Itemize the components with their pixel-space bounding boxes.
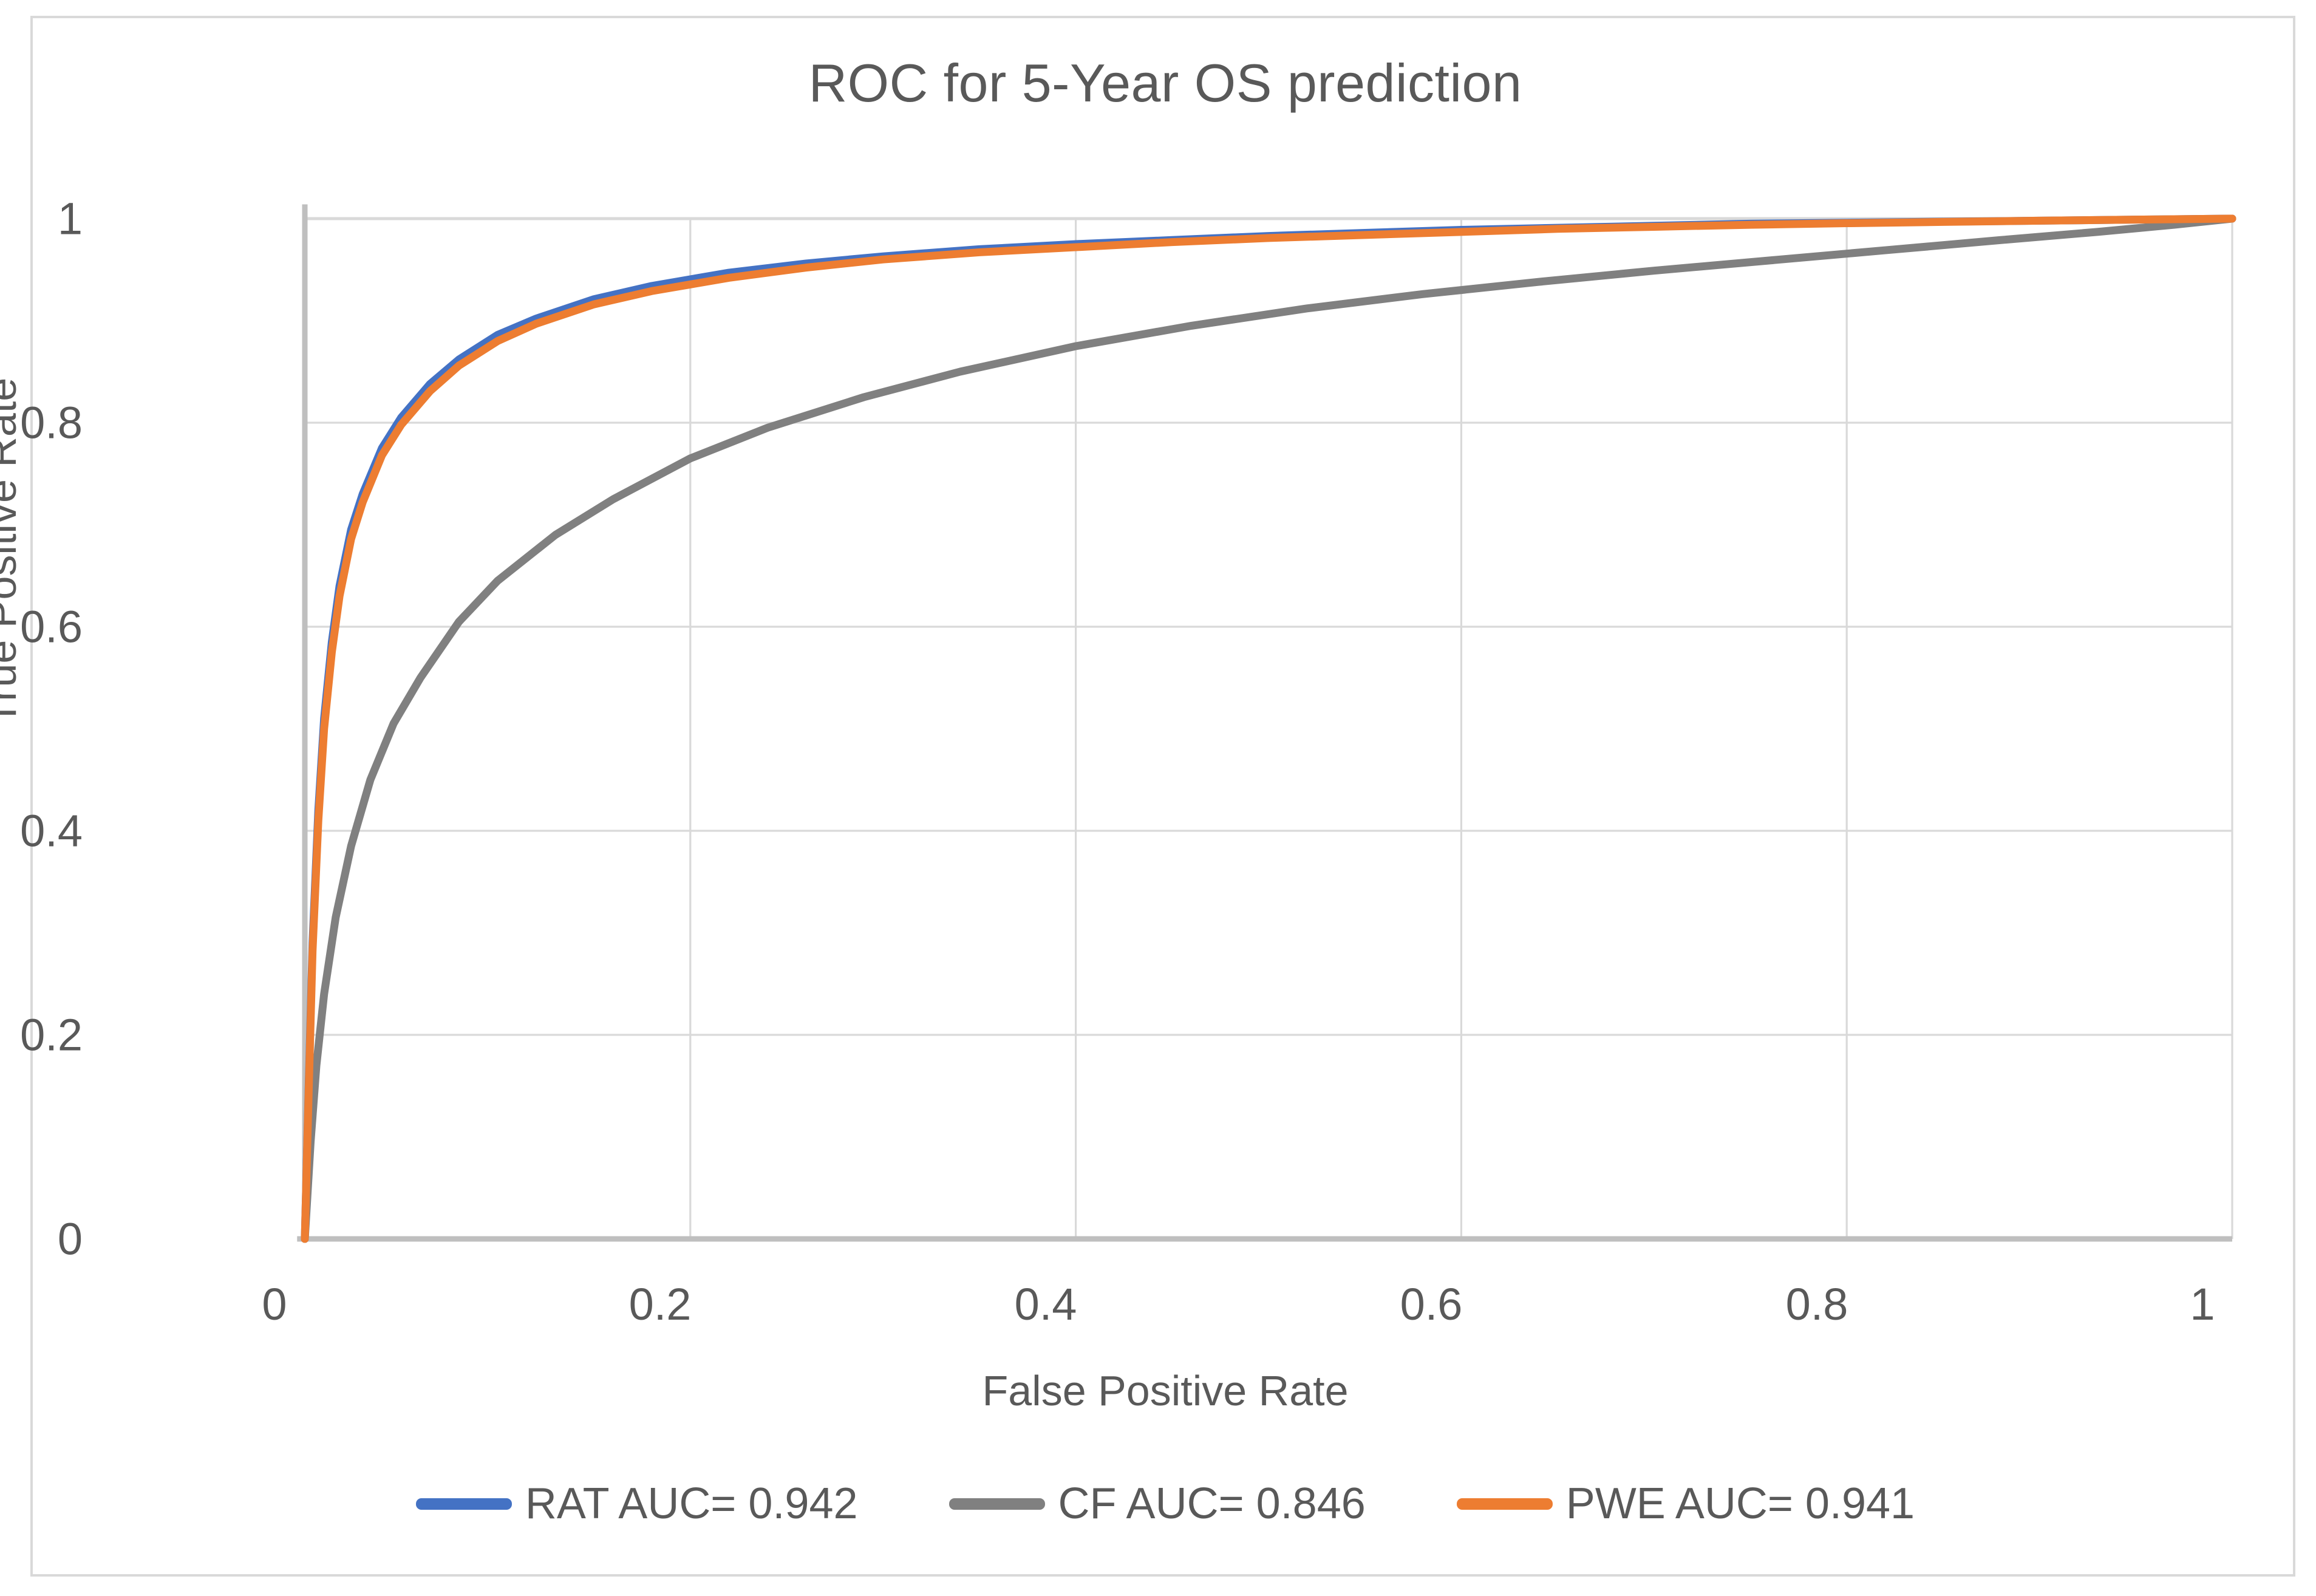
- series-lines: [305, 219, 2232, 1239]
- series-line-pwe: [305, 219, 2232, 1239]
- plot-area: [305, 219, 2232, 1239]
- chart-legend: RAT AUC= 0.942 CF AUC= 0.846 PWE AUC= 0.…: [33, 1479, 2298, 1529]
- y-tick-label: 0.8: [0, 397, 83, 449]
- y-tick-label: 0.4: [0, 805, 83, 857]
- y-tick-label: 0: [0, 1213, 83, 1265]
- gridlines: [305, 219, 2232, 1239]
- legend-label-cf: CF AUC= 0.846: [1058, 1479, 1366, 1529]
- y-tick-label: 0.2: [0, 1009, 83, 1061]
- chart-title: ROC for 5-Year OS prediction: [33, 52, 2298, 114]
- x-tick-label: 0.8: [1726, 1278, 1908, 1330]
- legend-item-cf[interactable]: CF AUC= 0.846: [949, 1479, 1366, 1529]
- y-tick-label: 1: [0, 193, 83, 245]
- legend-item-pwe[interactable]: PWE AUC= 0.941: [1457, 1479, 1915, 1529]
- x-tick-label: 0.4: [955, 1278, 1137, 1330]
- x-tick-label: 0.6: [1340, 1278, 1522, 1330]
- plot-wrap: [274, 203, 2233, 1254]
- series-line-rat: [305, 219, 2232, 1239]
- legend-swatch-rat: [416, 1498, 512, 1510]
- legend-label-rat: RAT AUC= 0.942: [525, 1479, 858, 1529]
- y-tick-label: 0.6: [0, 601, 83, 653]
- x-tick-label: 0.2: [569, 1278, 751, 1330]
- x-tick-label: 1: [2111, 1278, 2294, 1330]
- legend-swatch-cf: [949, 1498, 1045, 1510]
- roc-plot-svg: [305, 219, 2232, 1239]
- series-line-cf: [305, 219, 2232, 1239]
- x-axis-title: False Positive Rate: [33, 1366, 2298, 1415]
- axis-lines: [297, 204, 2232, 1239]
- legend-label-pwe: PWE AUC= 0.941: [1566, 1479, 1915, 1529]
- legend-item-rat[interactable]: RAT AUC= 0.942: [416, 1479, 858, 1529]
- chart-frame: ROC for 5-Year OS prediction True Positi…: [30, 16, 2295, 1577]
- x-tick-label: 0: [183, 1278, 366, 1330]
- legend-swatch-pwe: [1457, 1498, 1553, 1510]
